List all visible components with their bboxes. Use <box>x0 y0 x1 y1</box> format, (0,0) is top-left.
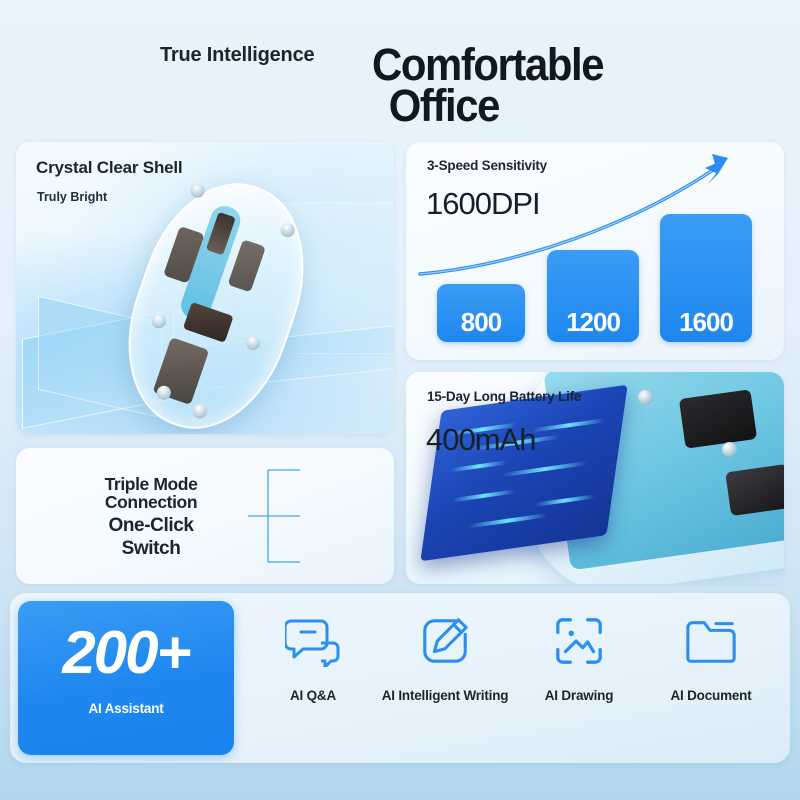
dpi-card-title: 3-Speed Sensitivity <box>427 158 547 173</box>
ai-feature-drawing[interactable]: AI Drawing <box>504 609 654 703</box>
ai-features-bar: 200+ AI Assistant AI Q&A AI In <box>10 593 790 763</box>
ai-assistant-count: 200+ <box>18 623 234 683</box>
battery-life-card: 15-Day Long Battery Life 400mAh <box>406 372 784 584</box>
page-title: Comfortable Office <box>372 44 651 127</box>
battery-cell <box>420 385 627 562</box>
ai-feature-label: AI Q&A <box>238 689 388 703</box>
pencil-square-icon <box>370 609 520 673</box>
dpi-bar-label: 1200 <box>566 309 620 342</box>
page-title-line2: Office <box>372 85 651 126</box>
dpi-sensitivity-card: 3-Speed Sensitivity 1600DPI 800 1200 160… <box>406 142 784 360</box>
ai-feature-label: AI Intelligent Writing <box>370 689 520 703</box>
triple-mode-connection-card: Triple Mode Connection One-Click Switch <box>16 448 394 584</box>
triple-mode-line3: One-Click <box>76 516 226 535</box>
ai-feature-label: AI Document <box>636 689 786 703</box>
dpi-bar-label: 1600 <box>679 309 733 342</box>
battery-card-title: 15-Day Long Battery Life <box>427 390 595 405</box>
mouse-internal-right <box>228 239 266 292</box>
mouse-dark-module <box>679 389 757 449</box>
mouse-sensor-module <box>183 302 234 343</box>
dpi-bar-label: 800 <box>461 309 501 342</box>
mouse-screw-icon <box>191 403 209 421</box>
crystal-clear-shell-card: Crystal Clear Shell Truly Bright <box>16 142 394 434</box>
dpi-value: 1600DPI <box>426 186 540 222</box>
ai-feature-qa[interactable]: AI Q&A <box>238 609 388 703</box>
ai-feature-label: AI Drawing <box>504 689 654 703</box>
image-frame-icon <box>504 609 654 673</box>
ai-assistant-label: AI Assistant <box>18 701 234 716</box>
crystal-card-subtitle: Truly Bright <box>37 190 107 204</box>
folder-icon <box>636 609 786 673</box>
mouse-screw-icon <box>244 334 262 352</box>
mouse-screw-icon <box>150 312 168 330</box>
mouse-screw-icon <box>279 221 297 239</box>
ai-assistant-hero-card: 200+ AI Assistant <box>18 601 234 755</box>
mouse-screw-icon <box>722 442 737 457</box>
triple-mode-text: Triple Mode Connection One-Click Switch <box>76 476 226 558</box>
dpi-bar-800: 800 <box>437 284 525 342</box>
connection-bracket-diagram <box>246 460 386 572</box>
triple-mode-line2: Connection <box>76 494 226 512</box>
chat-bubbles-icon <box>238 609 388 673</box>
triple-mode-line4: Switch <box>76 539 226 558</box>
header-subtitle: True Intelligence <box>160 44 370 67</box>
battery-value: 400mAh <box>426 422 535 458</box>
mouse-screw-icon <box>638 390 653 405</box>
crystal-card-title: Crystal Clear Shell <box>36 158 182 178</box>
infographic-page: True Intelligence Comfortable Office Cry… <box>0 0 800 800</box>
ai-feature-document[interactable]: AI Document <box>636 609 786 703</box>
ai-feature-writing[interactable]: AI Intelligent Writing <box>370 609 520 703</box>
mouse-dark-module-2 <box>725 464 784 516</box>
